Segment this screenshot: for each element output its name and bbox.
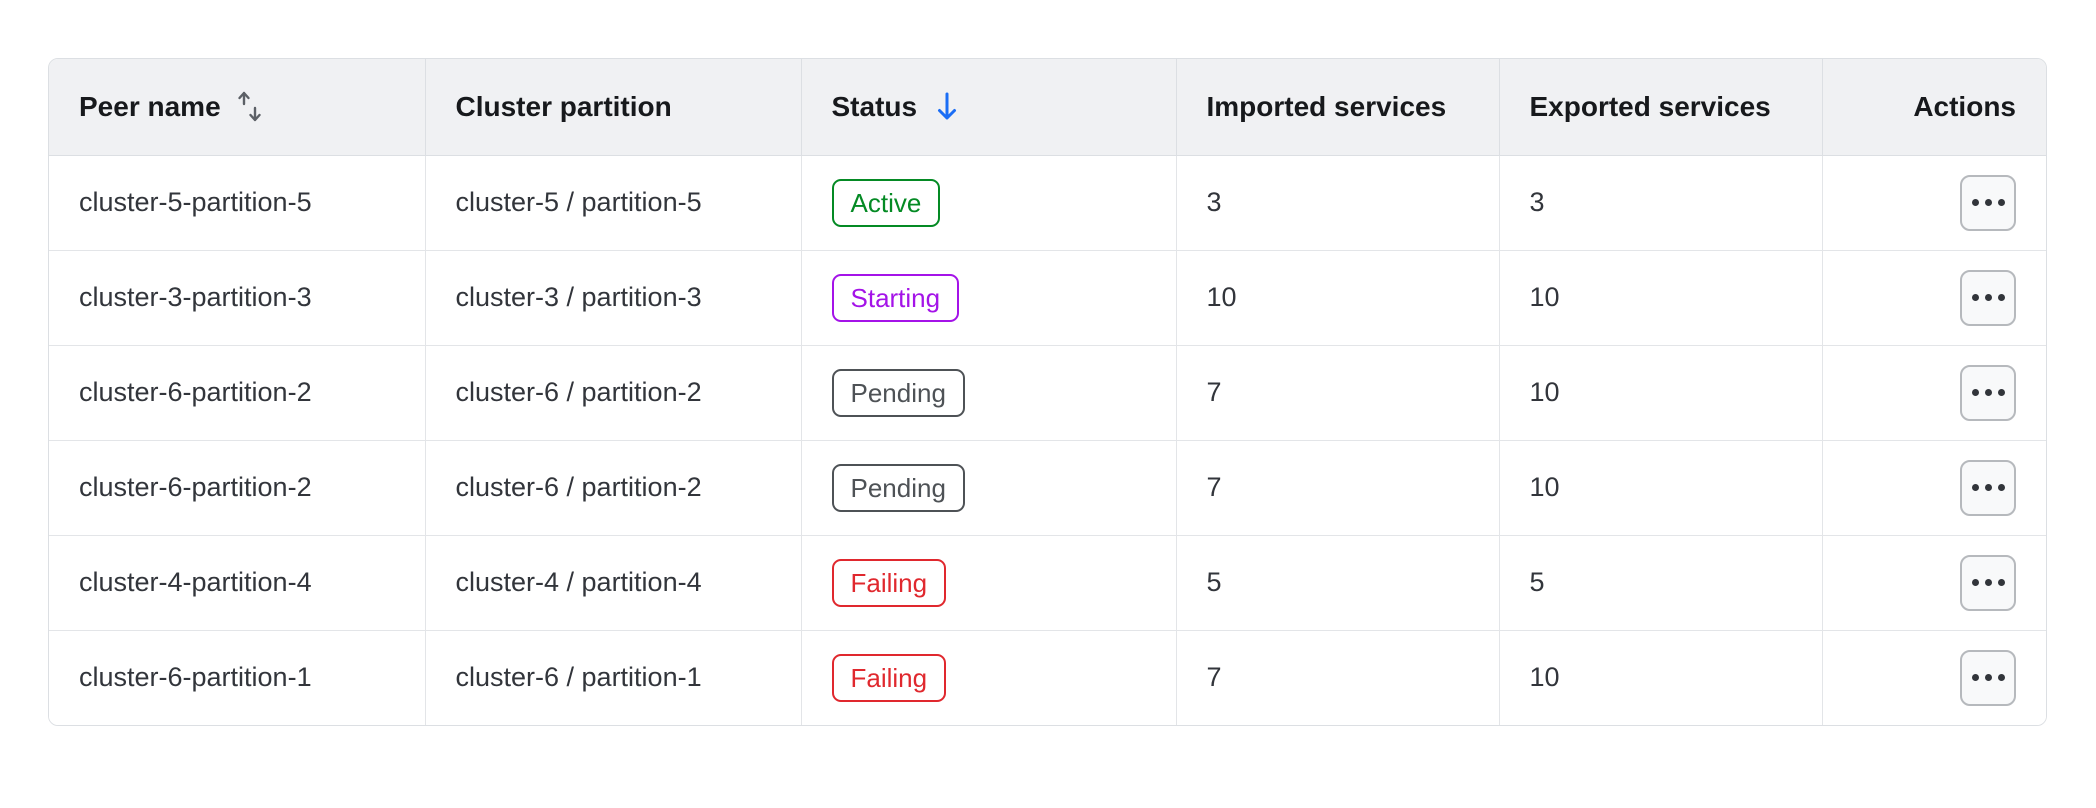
ellipsis-icon bbox=[1972, 674, 2005, 681]
header-row: Peer name Cluster partition bbox=[49, 59, 2046, 155]
peers-table: Peer name Cluster partition bbox=[49, 59, 2046, 725]
cell-exported-services: 10 bbox=[1499, 345, 1822, 440]
column-header-actions: Actions bbox=[1822, 59, 2046, 155]
cell-cluster-partition: cluster-3 / partition-3 bbox=[425, 250, 801, 345]
status-badge: Active bbox=[832, 179, 941, 227]
peers-table-container: Peer name Cluster partition bbox=[48, 58, 2047, 726]
column-header-label: Peer name bbox=[79, 91, 221, 123]
cell-cluster-partition: cluster-6 / partition-1 bbox=[425, 630, 801, 725]
cell-cluster-partition: cluster-6 / partition-2 bbox=[425, 440, 801, 535]
table-row: cluster-6-partition-2 cluster-6 / partit… bbox=[49, 345, 2046, 440]
column-header-label: Actions bbox=[1913, 91, 2016, 123]
status-badge: Pending bbox=[832, 464, 965, 512]
table-row: cluster-6-partition-2 cluster-6 / partit… bbox=[49, 440, 2046, 535]
ellipsis-icon bbox=[1972, 389, 2005, 396]
cell-imported-services: 7 bbox=[1176, 345, 1499, 440]
status-badge: Pending bbox=[832, 369, 965, 417]
column-header-cluster-partition[interactable]: Cluster partition bbox=[425, 59, 801, 155]
cell-cluster-partition: cluster-4 / partition-4 bbox=[425, 535, 801, 630]
column-header-label: Cluster partition bbox=[456, 91, 672, 123]
page-root: Peer name Cluster partition bbox=[0, 0, 2096, 808]
table-header: Peer name Cluster partition bbox=[49, 59, 2046, 155]
column-header-exported-services[interactable]: Exported services bbox=[1499, 59, 1822, 155]
status-badge: Starting bbox=[832, 274, 960, 322]
column-header-imported-services[interactable]: Imported services bbox=[1176, 59, 1499, 155]
cell-status: Pending bbox=[801, 440, 1176, 535]
row-actions-button[interactable] bbox=[1960, 365, 2016, 421]
table-row: cluster-5-partition-5 cluster-5 / partit… bbox=[49, 155, 2046, 250]
cell-actions bbox=[1822, 345, 2046, 440]
table-row: cluster-6-partition-1 cluster-6 / partit… bbox=[49, 630, 2046, 725]
cell-imported-services: 3 bbox=[1176, 155, 1499, 250]
ellipsis-icon bbox=[1972, 294, 2005, 301]
cell-status: Pending bbox=[801, 345, 1176, 440]
cell-status: Active bbox=[801, 155, 1176, 250]
status-badge: Failing bbox=[832, 654, 947, 702]
row-actions-button[interactable] bbox=[1960, 175, 2016, 231]
cell-peer-name: cluster-6-partition-1 bbox=[49, 630, 425, 725]
cell-actions bbox=[1822, 155, 2046, 250]
table-body: cluster-5-partition-5 cluster-5 / partit… bbox=[49, 155, 2046, 725]
arrow-down-icon[interactable] bbox=[933, 90, 961, 124]
cell-peer-name: cluster-6-partition-2 bbox=[49, 345, 425, 440]
row-actions-button[interactable] bbox=[1960, 555, 2016, 611]
cell-actions bbox=[1822, 535, 2046, 630]
ellipsis-icon bbox=[1972, 579, 2005, 586]
table-row: cluster-4-partition-4 cluster-4 / partit… bbox=[49, 535, 2046, 630]
column-header-label: Imported services bbox=[1207, 91, 1447, 123]
cell-exported-services: 5 bbox=[1499, 535, 1822, 630]
ellipsis-icon bbox=[1972, 484, 2005, 491]
cell-imported-services: 7 bbox=[1176, 440, 1499, 535]
status-badge: Failing bbox=[832, 559, 947, 607]
cell-actions bbox=[1822, 630, 2046, 725]
column-header-peer-name[interactable]: Peer name bbox=[49, 59, 425, 155]
cell-imported-services: 7 bbox=[1176, 630, 1499, 725]
cell-cluster-partition: cluster-6 / partition-2 bbox=[425, 345, 801, 440]
column-header-label: Exported services bbox=[1530, 91, 1771, 123]
row-actions-button[interactable] bbox=[1960, 650, 2016, 706]
cell-imported-services: 10 bbox=[1176, 250, 1499, 345]
cell-status: Failing bbox=[801, 535, 1176, 630]
cell-peer-name: cluster-5-partition-5 bbox=[49, 155, 425, 250]
cell-status: Starting bbox=[801, 250, 1176, 345]
cell-peer-name: cluster-6-partition-2 bbox=[49, 440, 425, 535]
cell-peer-name: cluster-4-partition-4 bbox=[49, 535, 425, 630]
cell-exported-services: 10 bbox=[1499, 440, 1822, 535]
cell-status: Failing bbox=[801, 630, 1176, 725]
row-actions-button[interactable] bbox=[1960, 460, 2016, 516]
cell-actions bbox=[1822, 440, 2046, 535]
column-header-status[interactable]: Status bbox=[801, 59, 1176, 155]
cell-imported-services: 5 bbox=[1176, 535, 1499, 630]
cell-exported-services: 3 bbox=[1499, 155, 1822, 250]
ellipsis-icon bbox=[1972, 199, 2005, 206]
row-actions-button[interactable] bbox=[1960, 270, 2016, 326]
sort-updown-icon[interactable] bbox=[237, 90, 263, 124]
column-header-label: Status bbox=[832, 91, 918, 123]
cell-exported-services: 10 bbox=[1499, 250, 1822, 345]
cell-cluster-partition: cluster-5 / partition-5 bbox=[425, 155, 801, 250]
cell-peer-name: cluster-3-partition-3 bbox=[49, 250, 425, 345]
table-row: cluster-3-partition-3 cluster-3 / partit… bbox=[49, 250, 2046, 345]
cell-actions bbox=[1822, 250, 2046, 345]
cell-exported-services: 10 bbox=[1499, 630, 1822, 725]
